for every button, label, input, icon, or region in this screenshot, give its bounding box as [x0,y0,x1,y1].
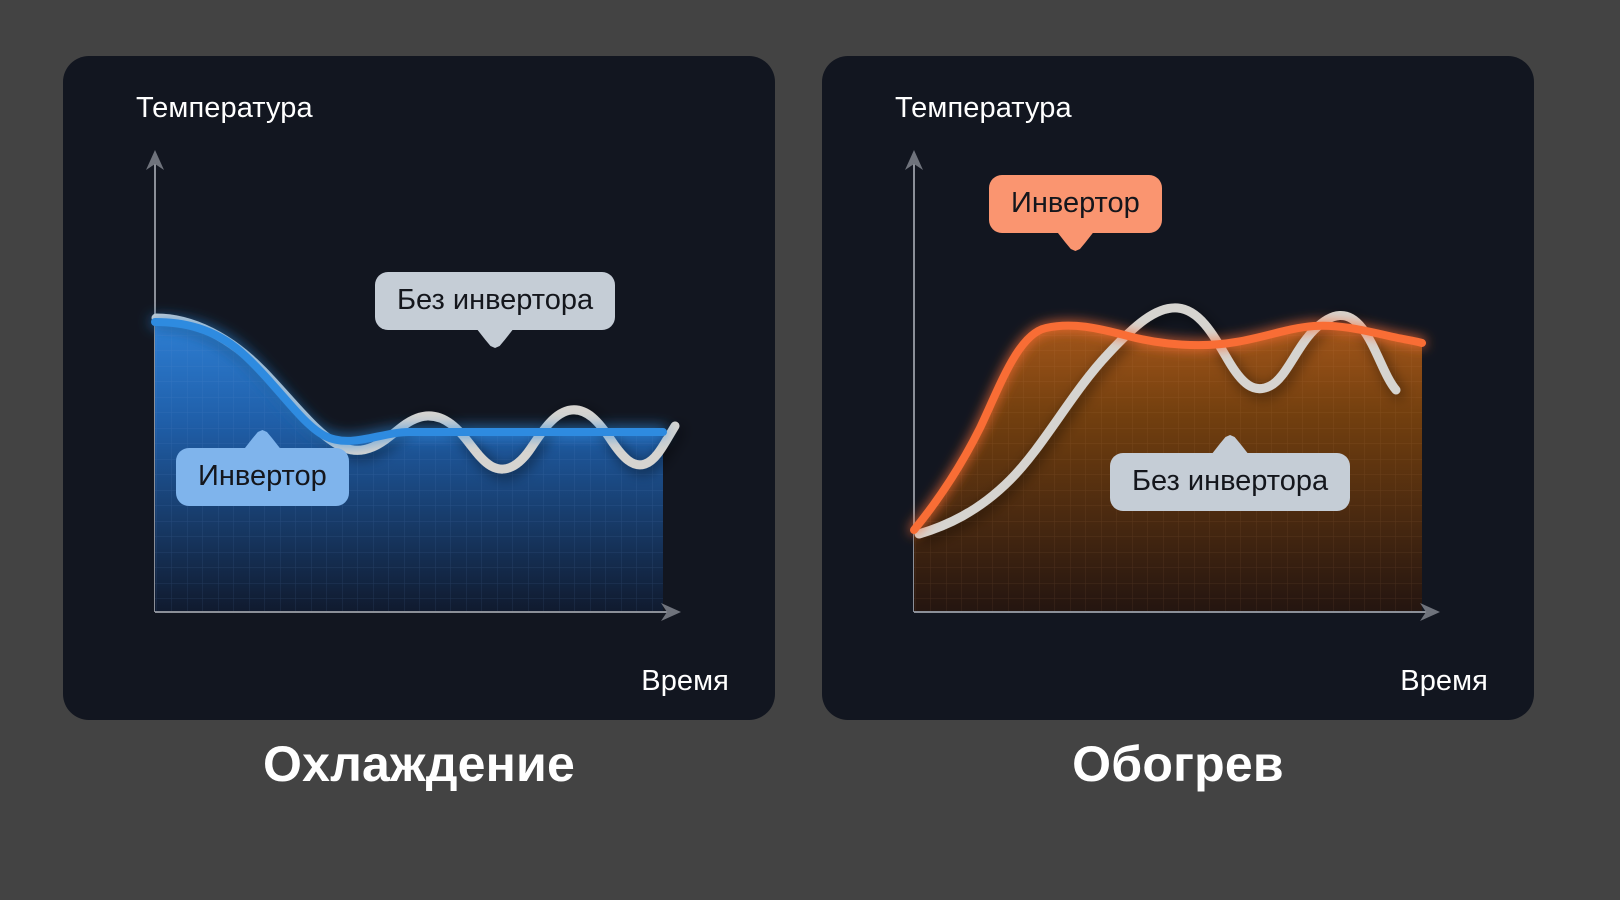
tooltip-label: Инвертор [198,460,327,492]
tooltip-label: Без инвертора [1132,465,1328,497]
page-root: Температура Время Инвертор Без инвертора [0,0,1620,900]
tooltip-no-inverter-heating[interactable]: Без инвертора [1110,453,1350,511]
heating-chart [822,56,1534,720]
tooltip-label: Инвертор [1011,187,1140,219]
tooltip-label: Без инвертора [397,284,593,316]
caption-heating: Обогрев [822,735,1534,793]
tooltip-inverter-cooling[interactable]: Инвертор [176,448,349,506]
heating-y-axis-label: Температура [895,92,1072,125]
caption-cooling: Охлаждение [63,735,775,793]
cooling-chart [63,56,775,720]
tooltip-no-inverter-cooling[interactable]: Без инвертора [375,272,615,330]
panel-card-cooling: Температура Время Инвертор Без инвертора [63,56,775,720]
cooling-x-axis-label: Время [641,665,729,698]
cooling-y-axis-label: Температура [136,92,313,125]
heating-x-axis-label: Время [1400,665,1488,698]
tooltip-inverter-heating[interactable]: Инвертор [989,175,1162,233]
panel-card-heating: Температура Время Инвертор Без инвертора [822,56,1534,720]
